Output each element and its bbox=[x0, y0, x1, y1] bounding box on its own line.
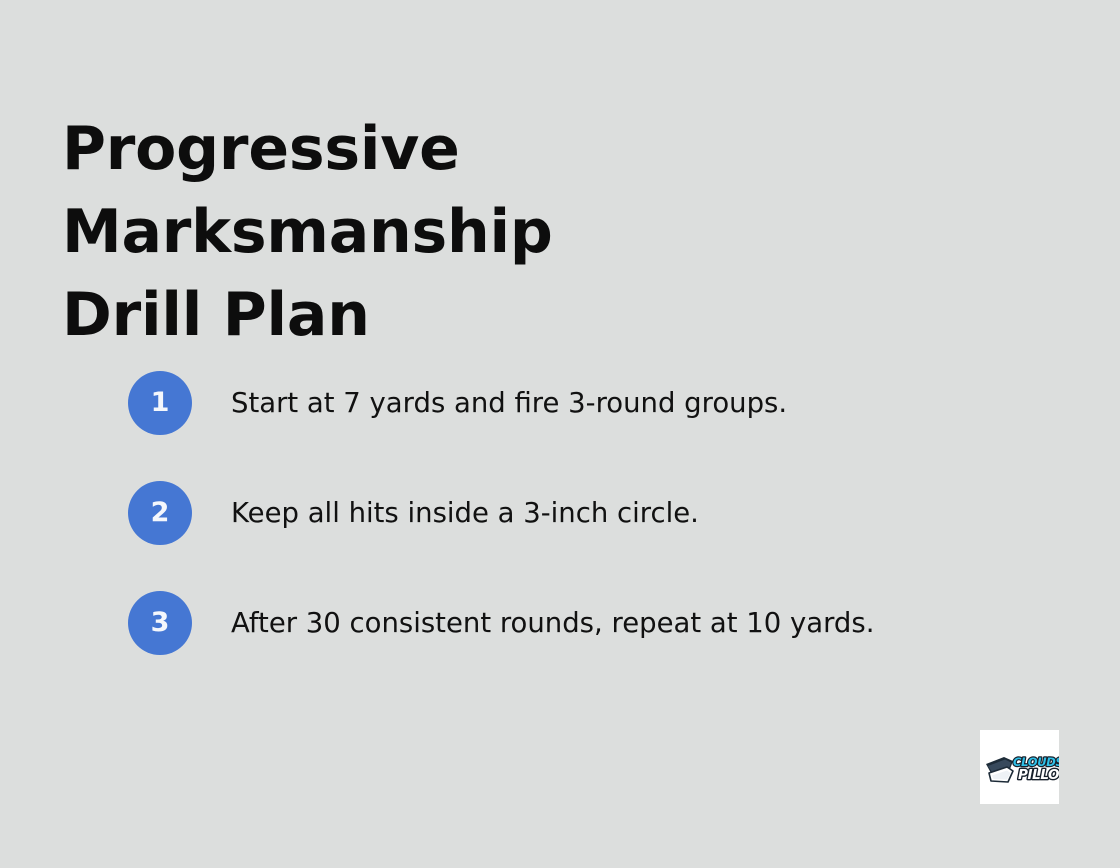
step-number-label: 1 bbox=[151, 389, 170, 416]
logo-artwork: CLOUDSTER PILLOW bbox=[980, 730, 1059, 804]
step-text: After 30 consistent rounds, repeat at 10… bbox=[231, 607, 874, 640]
logo-wordmark-line2: PILLOW bbox=[1018, 767, 1059, 783]
step-number-badge: 1 bbox=[128, 371, 192, 435]
page-title: Progressive Marksmanship Drill Plan bbox=[62, 108, 962, 356]
step-number-label: 3 bbox=[151, 609, 170, 636]
svg-text:PILLOW: PILLOW bbox=[1018, 767, 1059, 783]
steps-list: 1 Start at 7 yards and fire 3-round grou… bbox=[128, 371, 1028, 655]
list-item: 3 After 30 consistent rounds, repeat at … bbox=[128, 591, 1028, 655]
step-number-badge: 2 bbox=[128, 481, 192, 545]
step-number-label: 2 bbox=[151, 499, 170, 526]
cloudster-pillow-logo: CLOUDSTER PILLOW bbox=[980, 730, 1059, 804]
step-number-badge: 3 bbox=[128, 591, 192, 655]
slide-canvas: Progressive Marksmanship Drill Plan 1 St… bbox=[0, 0, 1120, 868]
step-text: Start at 7 yards and fire 3-round groups… bbox=[231, 387, 787, 420]
step-text: Keep all hits inside a 3-inch circle. bbox=[231, 497, 699, 530]
title-block: Progressive Marksmanship Drill Plan bbox=[62, 108, 962, 356]
list-item: 2 Keep all hits inside a 3-inch circle. bbox=[128, 481, 1028, 545]
list-item: 1 Start at 7 yards and fire 3-round grou… bbox=[128, 371, 1028, 435]
